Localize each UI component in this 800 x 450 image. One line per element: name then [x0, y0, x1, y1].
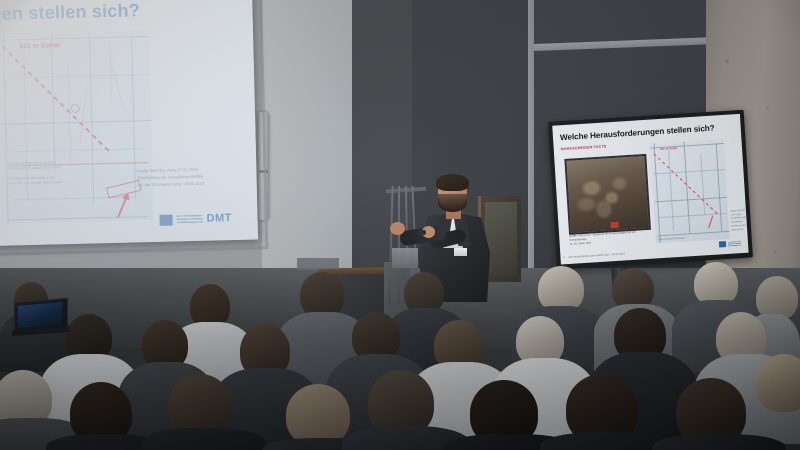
laptop-screen [18, 302, 62, 328]
presenter-beard [438, 194, 467, 212]
presentation-clicker [418, 230, 426, 235]
map-annotation-1: Hier wurde einige Jahre nach der Verfüll… [8, 160, 62, 171]
dmt-logo: DMT [159, 212, 232, 226]
audience-head [756, 354, 800, 412]
logo-text: DMT [206, 212, 232, 225]
slide-source-citation: Quelle: BeH.lfm, Asse 17.07.2019 „Rückho… [136, 166, 240, 189]
red-dashed-route [2, 46, 110, 153]
secondary-monitor-bezel: Welche Herausforderungen stellen sich? M… [548, 110, 753, 270]
secondary-mine-map: 511 m Sohle [650, 139, 730, 243]
shaft-marker-icon [71, 104, 80, 113]
secondary-source-citation: Quelle: BeH.lfm, Asse 17.07.2019 „Rückho… [730, 209, 749, 233]
photo-red-marker-icon [610, 222, 618, 228]
main-projection-screen: gen stellen sich? 511 m Sohle Hier [0, 0, 258, 246]
mine-map-diagram: 511 m Sohle Hier wurde einige Jahre nach… [0, 30, 154, 224]
secondary-slide-subtitle: MARKSCHEIDER FACTS [561, 144, 607, 151]
secondary-sohle-label: 511 m Sohle [660, 146, 678, 151]
presenter-hair [436, 174, 469, 191]
secondary-logo-mark-icon [719, 241, 726, 247]
historic-group-photo [564, 154, 651, 235]
secondary-monitor-display: Welche Herausforderungen stellen sich? M… [552, 114, 748, 265]
audience-head [286, 384, 350, 446]
sohle-label: 511 m Sohle [19, 42, 60, 50]
loudspeaker-icon [258, 112, 269, 220]
secondary-slide-title: Welche Herausforderungen stellen sich? [560, 124, 715, 143]
presenter-hand-left [390, 222, 405, 235]
slide-title: gen stellen sich? [0, 0, 140, 25]
wall-middle-panel [262, 0, 357, 290]
audience-body [652, 434, 786, 450]
secondary-logo-bars-icon [728, 241, 741, 247]
presenter-name-badge [454, 248, 467, 256]
logo-bars-icon [176, 214, 202, 224]
audience-body [142, 428, 266, 450]
secondary-dmt-logo [719, 240, 741, 247]
secondary-pointer-arrow-icon [708, 216, 713, 229]
audience-laptop [14, 300, 70, 336]
presentation-photo-scene: gen stellen sich? 511 m Sohle Hier [0, 0, 800, 450]
map-annotation-2: Ein Meter platt, dann aber an der Sohle … [8, 175, 62, 186]
seated-audience [0, 258, 800, 450]
logo-mark-icon [159, 214, 172, 225]
